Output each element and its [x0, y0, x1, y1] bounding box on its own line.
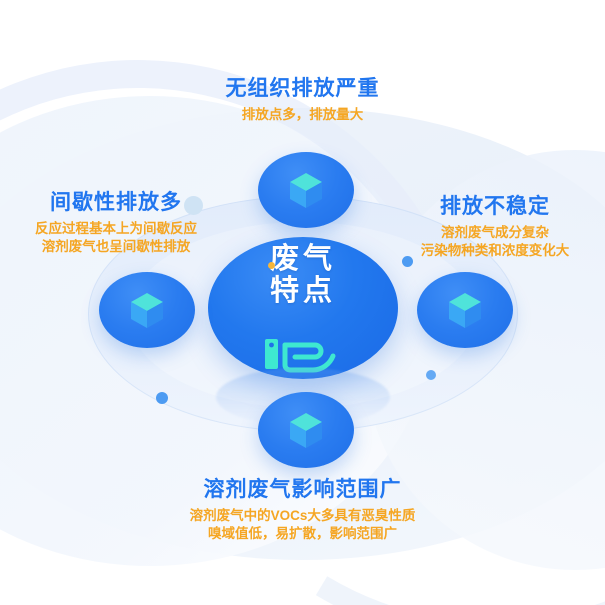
center-title-line-1: 废气 — [270, 243, 336, 275]
node-bubble-bottom[interactable] — [258, 392, 354, 468]
feature-block-left: 间歇性排放多 反应过程基本上为间歇反应 溶剂废气也呈间歇性排放 — [6, 190, 226, 256]
feature-title-left: 间歇性排放多 — [6, 190, 226, 216]
feature-subtitle-left-line-2: 溶剂废气也呈间歇性排放 — [6, 238, 226, 256]
node-bubble-right[interactable] — [417, 272, 513, 348]
decor-dot-left-low — [156, 392, 168, 404]
feature-subtitle-bottom-line-1: 溶剂废气中的VOCs大多具有恶臭性质 — [0, 507, 605, 525]
center-hub: 废气 特点 — [208, 237, 398, 379]
center-title-line-2: 特点 — [270, 275, 336, 307]
feature-subtitle-right-line-2: 污染物种类和浓度变化大 — [385, 242, 605, 260]
decor-dot-amber — [268, 262, 275, 269]
feature-subtitle-top-line-1: 排放点多，排放量大 — [0, 106, 605, 124]
feature-title-top: 无组织排放严重 — [0, 76, 605, 102]
feature-subtitle-bottom-line-2: 嗅域值低，易扩散，影响范围广 — [0, 525, 605, 543]
cube-icon — [443, 288, 487, 332]
feature-block-bottom: 溶剂废气影响范围广 溶剂废气中的VOCs大多具有恶臭性质 嗅域值低，易扩散，影响… — [0, 477, 605, 543]
feature-subtitle-left-line-1: 反应过程基本上为间歇反应 — [6, 220, 226, 238]
cube-icon — [125, 288, 169, 332]
feature-block-top: 无组织排放严重 排放点多，排放量大 — [0, 76, 605, 124]
cube-icon — [284, 168, 328, 212]
decor-dot-right-low — [426, 370, 436, 380]
node-bubble-left[interactable] — [99, 272, 195, 348]
feature-block-right: 排放不稳定 溶剂废气成分复杂 污染物种类和浓度变化大 — [385, 194, 605, 260]
cube-icon — [284, 408, 328, 452]
feature-subtitle-right-line-1: 溶剂废气成分复杂 — [385, 224, 605, 242]
feature-title-bottom: 溶剂废气影响范围广 — [0, 477, 605, 503]
infographic-canvas: 废气 特点 — [0, 0, 605, 605]
node-bubble-top[interactable] — [258, 152, 354, 228]
feature-title-right: 排放不稳定 — [385, 194, 605, 220]
